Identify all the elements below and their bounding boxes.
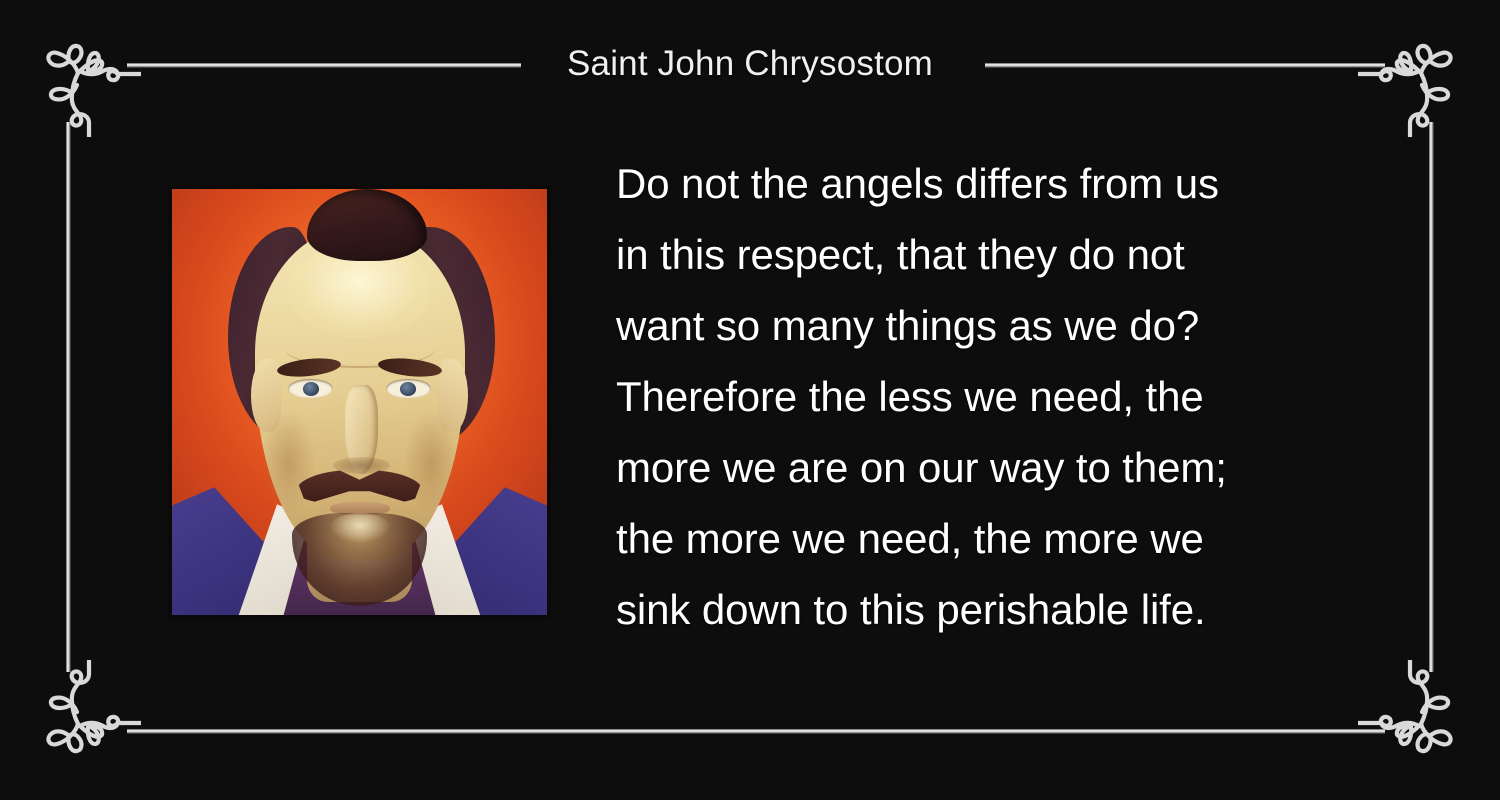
quote-text: Do not the angels differs from us in thi… [616,148,1356,645]
bottom-rule [127,729,1385,734]
icon-painting [172,189,547,615]
author-title: Saint John Chrysostom [0,40,1500,88]
quote-line: Therefore the less we need, the [616,361,1356,432]
quote-line: want so many things as we do? [616,290,1356,361]
quote-line: in this respect, that they do not [616,219,1356,290]
quote-line: sink down to this perishable life. [616,574,1356,645]
iris-left [303,382,319,396]
left-rule [66,122,71,672]
bottom-left-flourish-icon [31,660,141,770]
chin-highlight [330,513,390,543]
quote-line: Do not the angels differs from us [616,148,1356,219]
right-rule [1429,122,1434,672]
bottom-right-flourish-icon [1358,660,1468,770]
iris-right [400,382,416,396]
quote-line: the more we need, the more we [616,503,1356,574]
author-portrait [168,185,551,619]
quote-card: Saint John Chrysostom [0,0,1500,800]
quote-line: more we are on our way to them; [616,432,1356,503]
